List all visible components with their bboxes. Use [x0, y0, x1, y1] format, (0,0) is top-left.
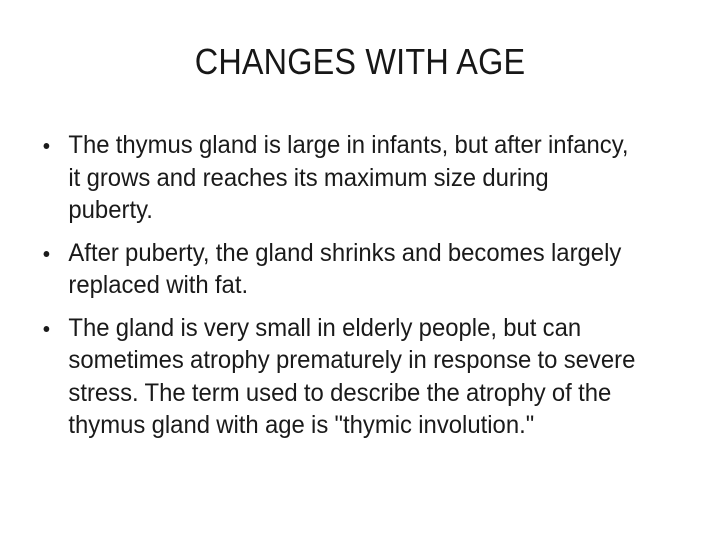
bullet-point-icon	[44, 143, 50, 149]
page-title: CHANGES WITH AGE	[36, 41, 684, 83]
bullet-point-icon	[44, 251, 50, 257]
list-item-text: After puberty, the gland shrinks and bec…	[68, 237, 635, 302]
list-item-text: The gland is very small in elderly peopl…	[68, 312, 635, 442]
list-item: After puberty, the gland shrinks and bec…	[34, 237, 636, 302]
list-item: The gland is very small in elderly peopl…	[34, 312, 636, 442]
bullet-point-icon	[44, 326, 50, 332]
slide-body-content: The thymus gland is large in infants, bu…	[34, 129, 664, 442]
list-item: The thymus gland is large in infants, bu…	[34, 129, 636, 227]
presentation-slide: CHANGES WITH AGE The thymus gland is lar…	[0, 0, 720, 539]
list-item-text: The thymus gland is large in infants, bu…	[68, 129, 635, 227]
